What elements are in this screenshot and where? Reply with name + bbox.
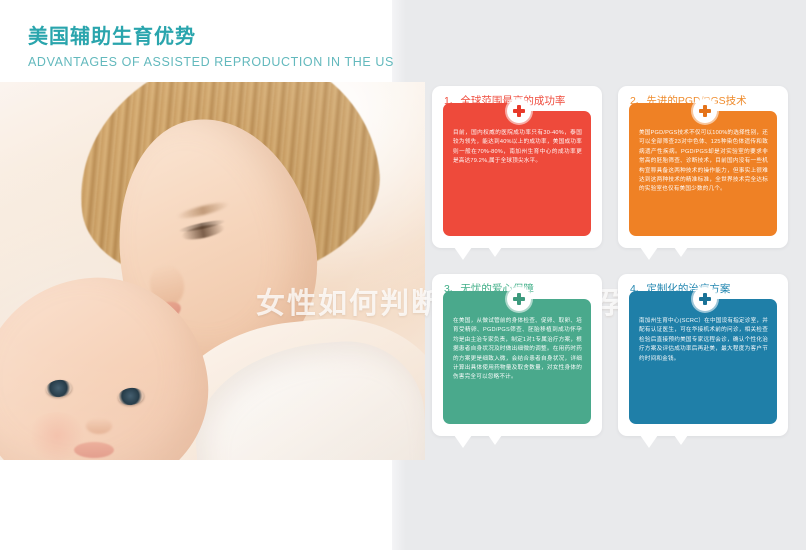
plus-bar-vertical (517, 105, 520, 117)
bubble-tail-3 (454, 435, 472, 448)
plus-icon-3 (507, 287, 531, 311)
page-canvas: 美国辅助生育优势 ADVANTAGES OF ASSISTED REPRODUC… (0, 0, 806, 550)
plus-bar-vertical (703, 293, 706, 305)
baby-mouth (74, 442, 114, 458)
card-panel-2: 美国PGD/PGS技术不仅可以100%的选择性别，还可以全部筛查23对中色体、1… (629, 111, 777, 236)
card-body-1: 目前，国内权威的医院成功率只有30-40%，泰国较为领先，能达到40%以上的成功… (453, 129, 582, 167)
plus-bar-vertical (703, 105, 706, 117)
hero-photo (0, 82, 425, 460)
card-body-2: 美国PGD/PGS技术不仅可以100%的选择性别，还可以全部筛查23对中色体、1… (639, 129, 768, 195)
bubble-tail-small-4 (674, 435, 688, 445)
bubble-tail-small-3 (488, 435, 502, 445)
advantage-card-2[interactable]: 2、先进的PGD/PGS技术 美国PGD/PGS技术不仅可以100%的选择性别，… (618, 86, 788, 248)
card-panel-4: 南加州生育中心(SCRC）在中国设有指定诊室，并配有认证医生，可在华接机术前的问… (629, 299, 777, 424)
card-panel-1: 目前，国内权威的医院成功率只有30-40%，泰国较为领先，能达到40%以上的成功… (443, 111, 591, 236)
bubble-tail-1 (454, 247, 472, 260)
card-body-4: 南加州生育中心(SCRC）在中国设有指定诊室，并配有认证医生，可在华接机术前的问… (639, 317, 768, 364)
plus-icon-1 (507, 99, 531, 123)
plus-icon-2 (693, 99, 717, 123)
advantage-card-1[interactable]: 1、全球范围最高的成功率 目前，国内权威的医院成功率只有30-40%，泰国较为领… (432, 86, 602, 248)
plus-bar-vertical (517, 293, 520, 305)
bubble-tail-2 (640, 247, 658, 260)
bubble-tail-small-2 (674, 247, 688, 257)
page-title-en: ADVANTAGES OF ASSISTED REPRODUCTION IN T… (28, 54, 388, 70)
card-panel-3: 在美国，从做试管前的身体检查、促卵、取卵、培育受精卵、PGD/PGS筛查、胚胎移… (443, 299, 591, 424)
bubble-tail-small-1 (488, 247, 502, 257)
advantage-card-3[interactable]: 3、无忧的爱心保障 在美国，从做试管前的身体检查、促卵、取卵、培育受精卵、PGD… (432, 274, 602, 436)
page-title-cn: 美国辅助生育优势 (28, 24, 388, 50)
page-heading: 美国辅助生育优势 ADVANTAGES OF ASSISTED REPRODUC… (28, 24, 388, 70)
bubble-tail-4 (640, 435, 658, 448)
plus-icon-4 (693, 287, 717, 311)
advantage-card-4[interactable]: 4、定制化的治疗方案 南加州生育中心(SCRC）在中国设有指定诊室，并配有认证医… (618, 274, 788, 436)
baby-nose (86, 418, 112, 434)
card-body-3: 在美国，从做试管前的身体检查、促卵、取卵、培育受精卵、PGD/PGS筛查、胚胎移… (453, 317, 582, 383)
